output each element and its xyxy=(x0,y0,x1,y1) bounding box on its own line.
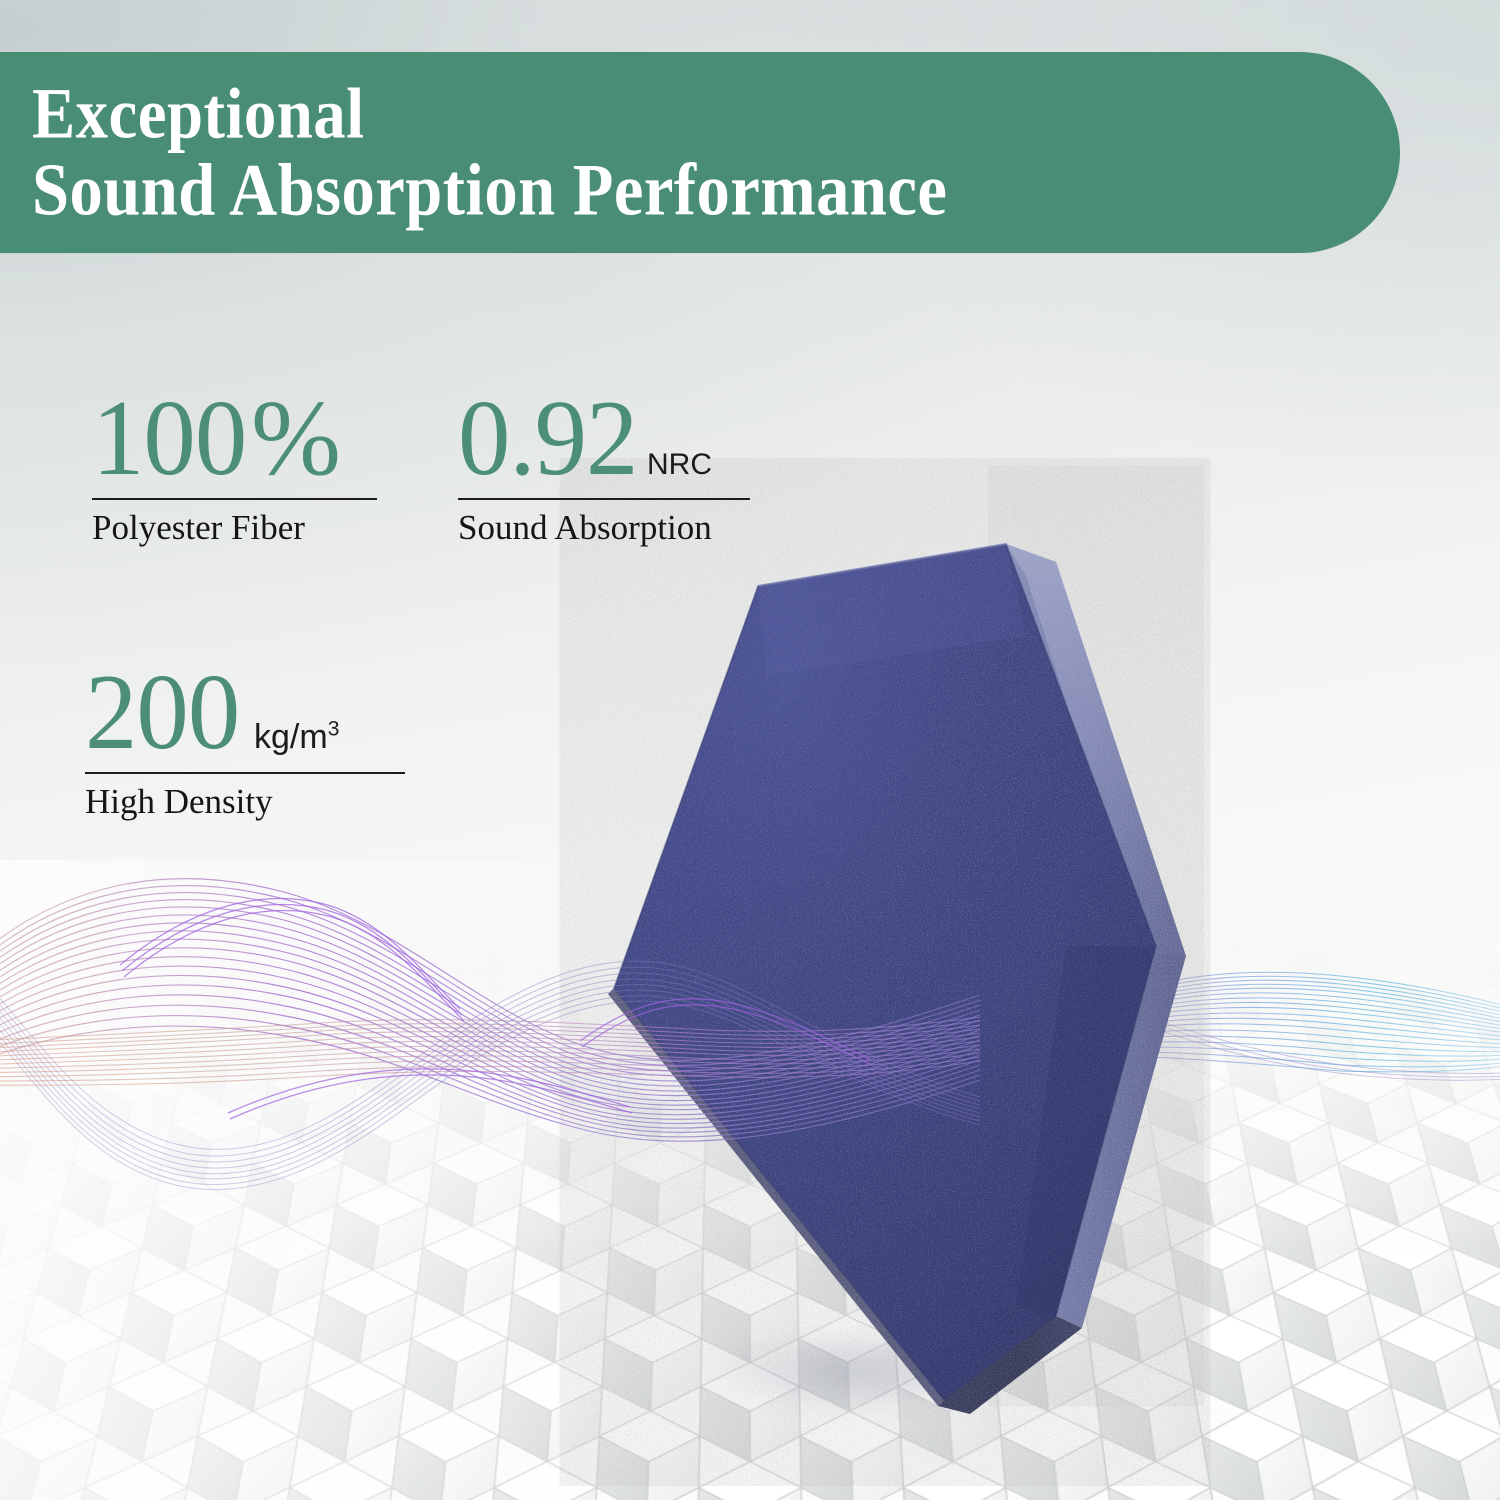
stat-polyester-fiber: 100 % Polyester Fiber xyxy=(92,386,377,550)
stat-value: 200 xyxy=(85,660,239,766)
stat-label: Polyester Fiber xyxy=(92,506,377,550)
stat-value: 100 xyxy=(92,386,246,492)
header-title: Exceptional Sound Absorption Performance xyxy=(32,75,1049,230)
stat-divider xyxy=(458,498,750,500)
stat-label: High Density xyxy=(85,780,405,824)
stat-value-row: 100 % xyxy=(92,386,377,492)
header-banner: Exceptional Sound Absorption Performance xyxy=(0,52,1400,253)
stat-sound-absorption: 0.92 NRC Sound Absorption xyxy=(458,386,750,550)
header-title-line1: Exceptional xyxy=(32,75,947,151)
honeycomb-3d-pattern xyxy=(0,918,1500,1500)
stat-label: Sound Absorption xyxy=(458,506,750,550)
stat-high-density: 200 kg/m3 High Density xyxy=(85,660,405,824)
header-title-line2: Sound Absorption Performance xyxy=(32,151,947,229)
stat-value-row: 200 kg/m3 xyxy=(85,660,405,766)
stat-unit: NRC xyxy=(647,450,712,480)
stat-value-suffix: % xyxy=(251,386,341,492)
stat-unit-text: kg/m xyxy=(254,718,328,756)
stat-divider xyxy=(92,498,377,500)
infographic-canvas: Exceptional Sound Absorption Performance xyxy=(0,0,1500,1500)
stat-value: 0.92 xyxy=(458,386,637,492)
stat-value-row: 0.92 NRC xyxy=(458,386,750,492)
stat-unit-superscript: 3 xyxy=(328,718,340,741)
stat-divider xyxy=(85,772,405,774)
stat-unit: kg/m3 xyxy=(254,720,339,754)
